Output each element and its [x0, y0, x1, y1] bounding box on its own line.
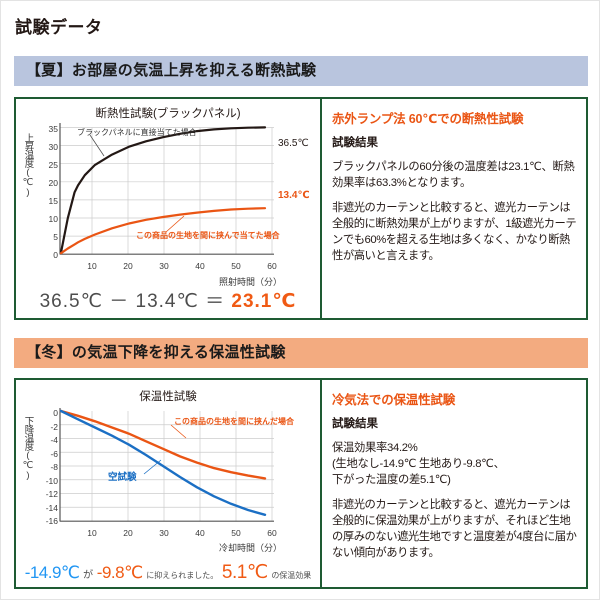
formula-part-b: 13.4℃ ＝ — [136, 291, 226, 312]
series-annotation-orange: この商品の生地を間に挟んだ場合 — [174, 418, 294, 426]
test-data-page: 試験データ 【夏】お部屋の気温上昇を抑える断熱試験 断熱性試験(ブラックパネル)… — [0, 0, 600, 600]
panel-paragraph-1: 保温効果率34.2% (生地なし-14.9℃ 生地あり-9.8℃、 下がった温度… — [332, 440, 580, 488]
formula-result: 23.1℃ — [231, 291, 296, 312]
section-header-winter: 【冬】の気温下降を抑える保温性試験 — [14, 338, 588, 368]
panel-title: 冷気法での保温性試験 — [332, 389, 580, 408]
panel-subtitle: 試験結果 — [332, 415, 580, 431]
formula-part-a: -14.9℃ — [25, 563, 80, 582]
section-body-winter: 保温性試験 下降温度(℃) 0 -2 -4 -6 -8 -10 -12 -14 … — [14, 378, 588, 589]
text-panel-insulation: 赤外ランプ法 60℃での断熱性試験 試験結果 ブラックパネルの60分後の温度差は… — [320, 99, 586, 318]
chart-panel-insulation: 断熱性試験(ブラックパネル) 上昇温度(℃) 35 30 25 20 15 10… — [16, 99, 320, 318]
end-label-black: 36.5℃ — [278, 139, 309, 149]
formula-result: 5.1℃ — [222, 562, 268, 583]
series-annotation-blue: 空試験 — [108, 473, 137, 483]
chart-plot-area — [16, 380, 320, 565]
series-annotation-black: ブラックパネルに直接当てた場合 — [77, 129, 197, 137]
panel-paragraph-1: ブラックパネルの60分後の温度差は23.1℃、断熱効果率は63.3%となります。 — [332, 159, 580, 191]
panel-paragraph-2: 非遮光のカーテンと比較すると、遮光カーテンは全般的に保温効果が上がりますが、それ… — [332, 497, 580, 561]
section-header-summer: 【夏】お部屋の気温上昇を抑える断熱試験 — [14, 56, 588, 86]
end-label-orange: 13.4℃ — [278, 191, 310, 201]
formula-part-f: の保温効果 — [271, 571, 311, 580]
panel-paragraph-2: 非遮光のカーテンと比較すると、遮光カーテンは全般的に断熱効果が上がりますが、1級… — [332, 200, 580, 264]
chart-insulation: 断熱性試験(ブラックパネル) 上昇温度(℃) 35 30 25 20 15 10… — [16, 99, 320, 318]
panel-subtitle: 試験結果 — [332, 134, 580, 150]
formula-part-d: に抑えられました。 — [146, 571, 218, 580]
formula-part-b: が — [83, 570, 93, 581]
formula-insulation: 36.5℃ － 13.4℃ ＝ 23.1℃ — [16, 286, 320, 313]
series-annotation-orange: この商品の生地を間に挟んで当てた場合 — [136, 232, 280, 240]
text-panel-heat-retention: 冷気法での保温性試験 試験結果 保温効果率34.2% (生地なし-14.9℃ 生… — [320, 380, 586, 587]
formula-heat-retention: -14.9℃ が -9.8℃ に抑えられました。 5.1℃ の保温効果 — [16, 561, 320, 584]
formula-part-a: 36.5℃ － — [40, 291, 130, 312]
page-title: 試験データ — [15, 13, 103, 38]
chart-panel-heatretention: 保温性試験 下降温度(℃) 0 -2 -4 -6 -8 -10 -12 -14 … — [16, 380, 320, 587]
panel-title: 赤外ランプ法 60℃での断熱性試験 — [332, 108, 580, 127]
formula-part-c: -9.8℃ — [97, 563, 143, 582]
section-body-summer: 断熱性試験(ブラックパネル) 上昇温度(℃) 35 30 25 20 15 10… — [14, 97, 588, 320]
chart-heat-retention: 保温性試験 下降温度(℃) 0 -2 -4 -6 -8 -10 -12 -14 … — [16, 380, 320, 587]
